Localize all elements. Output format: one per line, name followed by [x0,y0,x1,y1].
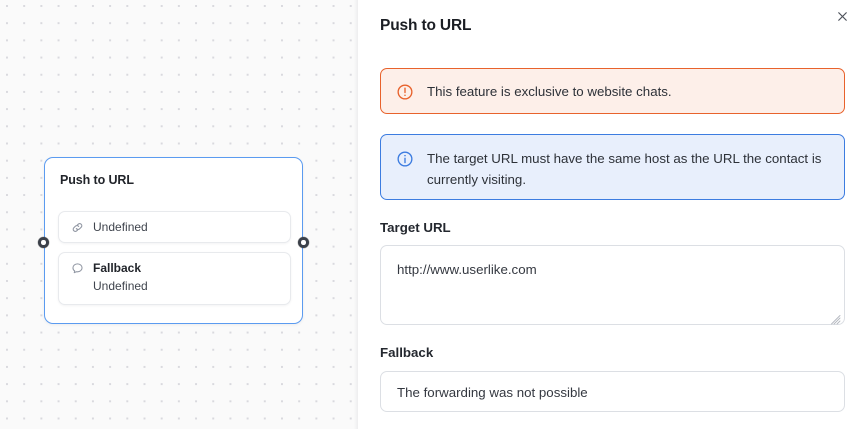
resize-handle-icon[interactable] [831,311,841,321]
fallback-label: Fallback [380,345,433,360]
settings-panel: Push to URL This feature is exclusive to… [358,0,862,429]
output-handle[interactable] [298,237,309,248]
alert-warning-text: This feature is exclusive to website cha… [427,81,672,102]
node-row-target-url[interactable]: Undefined [58,211,291,243]
node-row-fallback[interactable]: Fallback Undefined [58,252,291,305]
alert-circle-icon [396,83,414,101]
target-url-input[interactable]: http://www.userlike.com [380,245,845,325]
alert-warning: This feature is exclusive to website cha… [380,68,845,114]
chat-bubble-icon [70,261,84,275]
info-circle-icon [396,150,414,168]
input-handle[interactable] [38,237,49,248]
panel-title: Push to URL [380,17,471,35]
close-icon[interactable] [831,5,853,27]
node-row-label: Undefined [93,219,148,235]
target-url-value: http://www.userlike.com [397,262,537,277]
alert-info: The target URL must have the same host a… [380,134,845,200]
target-url-label: Target URL [380,220,451,235]
fallback-value: The forwarding was not possible [397,385,588,400]
link-icon [70,220,84,234]
node-row-label: Fallback [93,260,141,276]
flow-node-push-to-url[interactable]: Push to URL Undefined [44,157,303,324]
push-to-url-screen: Push to URL Undefined [0,0,862,429]
flow-canvas[interactable]: Push to URL Undefined [0,0,358,429]
node-row-sublabel: Undefined [93,279,148,293]
node-title: Push to URL [60,173,134,187]
alert-info-text: The target URL must have the same host a… [427,148,829,190]
fallback-input[interactable]: The forwarding was not possible [380,371,845,412]
